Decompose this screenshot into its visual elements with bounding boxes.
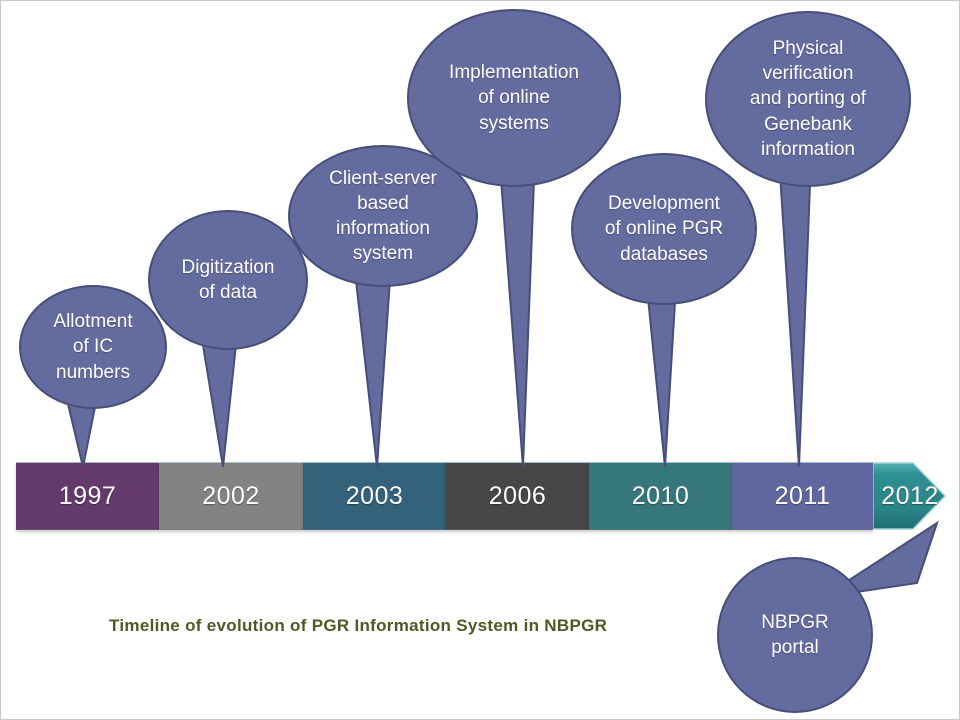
bubble-tail-2006 [495, 151, 543, 471]
bubble-tail-2011 [773, 156, 819, 471]
timeline-segment-2002-label: 2002 [202, 484, 260, 509]
timeline-segment-2006-label: 2006 [489, 484, 547, 509]
timeline-segment-1997[interactable]: 1997 [16, 462, 159, 530]
bubble-2006-label: Implementation of online systems [439, 60, 589, 135]
timeline-segment-2002[interactable]: 2002 [159, 462, 303, 530]
diagram-caption: Timeline of evolution of PGR Information… [109, 616, 607, 636]
bubble-tail-2003 [349, 261, 397, 471]
bubble-2006[interactable]: Implementation of online systems [407, 9, 621, 187]
bubble-tail-2002 [197, 331, 245, 471]
bubble-2011[interactable]: Physical verification and porting of Gen… [705, 11, 911, 187]
timeline-segment-2006[interactable]: 2006 [446, 462, 589, 530]
timeline-bar: 1997 2002 2003 2006 2010 2011 [16, 462, 946, 530]
timeline-segment-2003[interactable]: 2003 [303, 462, 446, 530]
timeline-segment-2010[interactable]: 2010 [589, 462, 732, 530]
timeline-segment-2012[interactable]: 2012 [873, 462, 946, 530]
timeline-segment-2012-label: 2012 [881, 484, 939, 509]
bubble-2002[interactable]: Digitization of data [148, 210, 308, 350]
bubble-2010-label: Development of online PGR databases [595, 191, 733, 266]
timeline-segment-2011[interactable]: 2011 [732, 462, 873, 530]
bubble-2002-label: Digitization of data [172, 255, 285, 305]
timeline-segment-1997-label: 1997 [59, 484, 117, 509]
timeline-segment-2010-label: 2010 [632, 484, 690, 509]
bubble-2012-portal-label: NBPGR portal [751, 610, 839, 660]
bubble-2010[interactable]: Development of online PGR databases [571, 153, 757, 305]
bubble-1997[interactable]: Allotment of IC numbers [19, 285, 167, 409]
bubble-1997-label: Allotment of IC numbers [43, 309, 142, 384]
timeline-segment-2011-label: 2011 [775, 484, 831, 509]
timeline-segment-2003-label: 2003 [346, 484, 404, 509]
bubble-2012-portal[interactable]: NBPGR portal [717, 557, 873, 713]
bubble-2003-label: Client-server based information system [319, 166, 447, 266]
timeline-diagram: Allotment of IC numbers Digitization of … [0, 0, 960, 720]
bubble-2011-label: Physical verification and porting of Gen… [740, 36, 876, 161]
